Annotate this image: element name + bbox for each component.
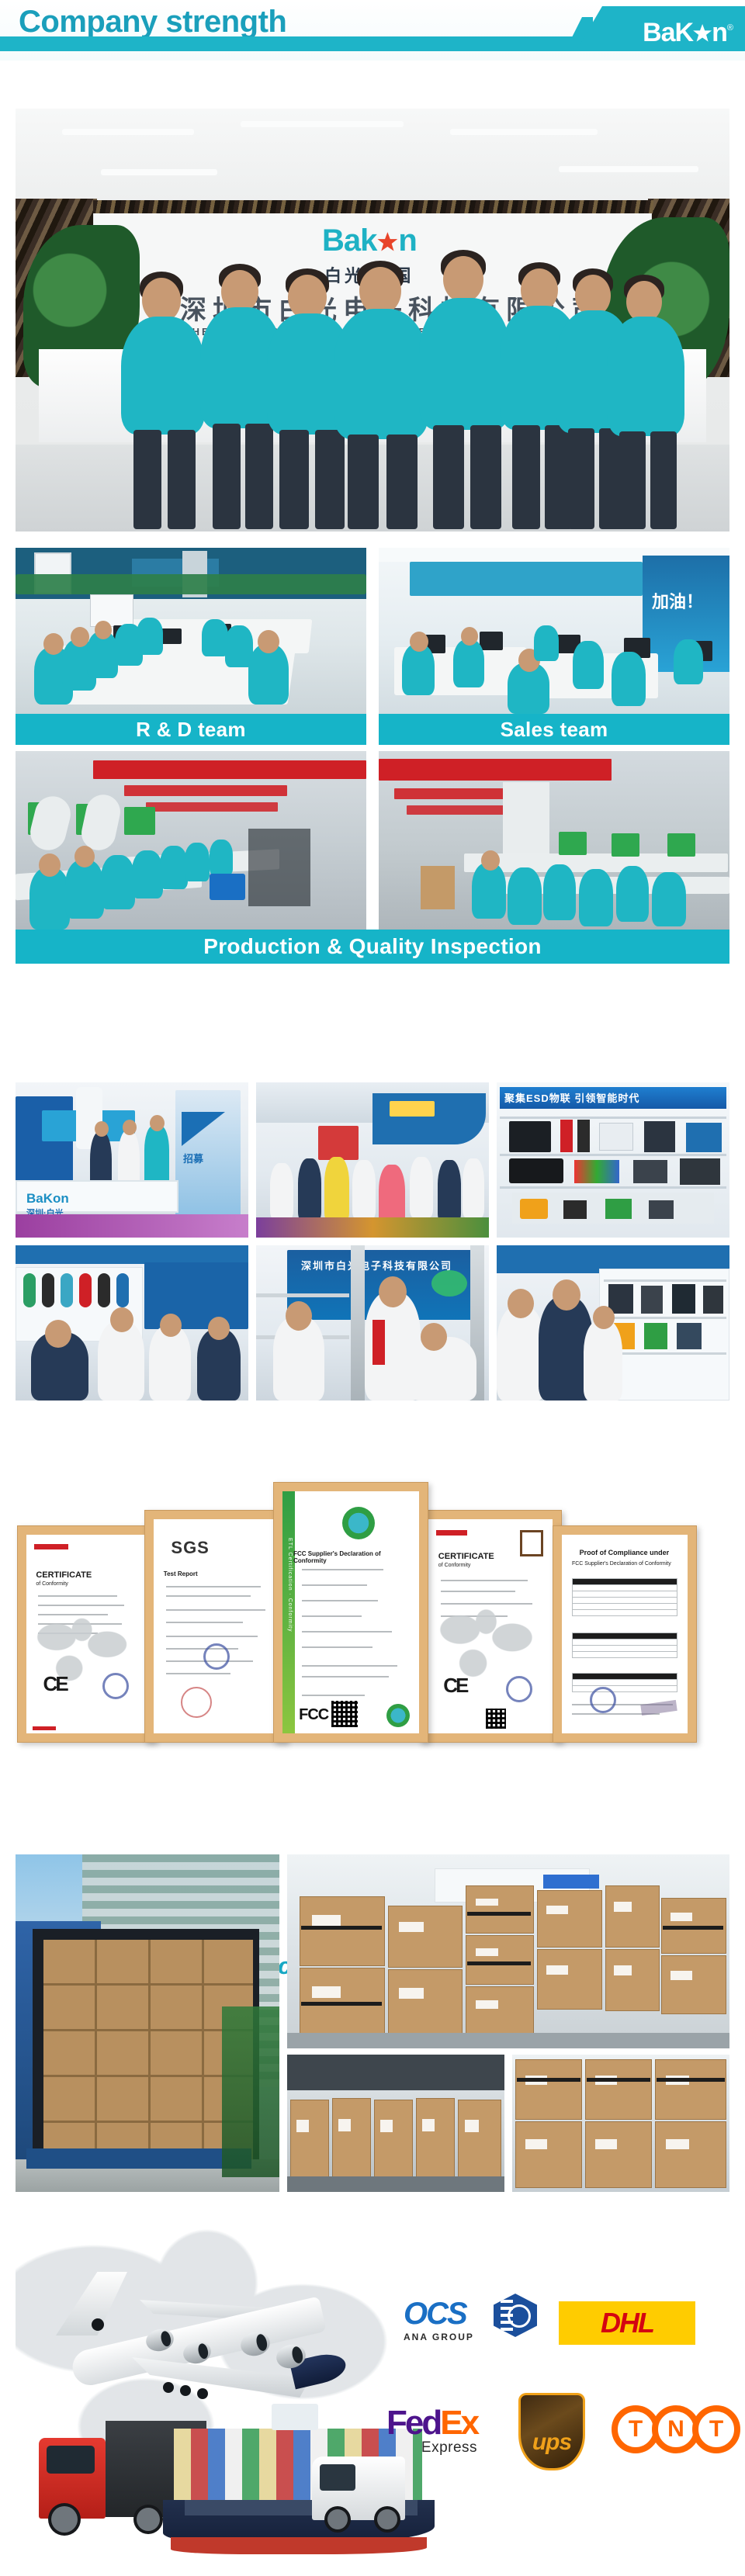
van-window xyxy=(320,2464,355,2491)
blue-bin xyxy=(210,874,245,900)
product-case xyxy=(509,1158,563,1183)
pillar xyxy=(503,782,549,857)
logo-text-k: K xyxy=(675,18,694,47)
packing-photo-truck xyxy=(16,1854,279,2192)
exhibition-photo-2 xyxy=(256,1082,489,1238)
certificate-2-subtitle: Test Report xyxy=(164,1570,198,1577)
dhl-wordmark: DHL xyxy=(601,2307,653,2339)
logistics-illustration: OCS ANA GROUP DHL FedEx Express ups T N … xyxy=(16,2196,729,2560)
certificate-1-title: CERTIFICATE xyxy=(36,1570,92,1580)
certificate-gallery: CERTIFICATE of Conformity CE SGS Test Re… xyxy=(0,1474,745,1746)
etl-logo-icon xyxy=(386,1704,410,1727)
product-display xyxy=(509,1121,551,1152)
production-caption: Production & Quality Inspection xyxy=(16,930,729,964)
blue-bins xyxy=(543,1875,599,1889)
courier-logo-dhl: DHL xyxy=(559,2301,695,2345)
tnt-letter-t2: T xyxy=(692,2405,740,2453)
qr-code-icon xyxy=(486,1709,506,1729)
packing-photo-warehouse xyxy=(287,1854,729,2048)
star-icon xyxy=(376,231,398,253)
page-title: Company strength xyxy=(19,5,286,40)
green-side-bar: ETL Certification · Conformity xyxy=(282,1491,295,1733)
stamp-icon xyxy=(102,1673,129,1699)
wall-banner xyxy=(410,562,643,596)
ship-bridge xyxy=(272,2404,318,2430)
certificate-1: CERTIFICATE of Conformity CE xyxy=(17,1525,155,1743)
booth-logo: BaKon xyxy=(26,1191,69,1207)
factory-banner xyxy=(93,760,366,779)
ceiling xyxy=(287,2055,504,2090)
dhl-logo-icon: DHL xyxy=(559,2301,695,2345)
compliance-table xyxy=(572,1633,677,1657)
sales-wall-slogan: 加油！ xyxy=(652,588,703,613)
factory-banner xyxy=(379,759,612,781)
ups-logo-icon: ups xyxy=(518,2393,585,2470)
courier-logo-fedex: FedEx Express xyxy=(386,2404,477,2457)
registered-trademark-icon: ® xyxy=(727,23,733,33)
booth-frame xyxy=(351,1245,365,1401)
compliance-table xyxy=(572,1673,677,1691)
truck-bumper xyxy=(26,2148,251,2169)
wall-bakon-logo: Bakn xyxy=(322,223,417,258)
whiteboard xyxy=(90,594,133,627)
stamp-icon xyxy=(506,1676,532,1702)
certificate-4: CERTIFICATE of Conformity CE xyxy=(419,1510,562,1743)
rd-team-photo xyxy=(16,548,366,714)
compliance-table xyxy=(572,1578,677,1615)
hedge xyxy=(222,2006,279,2177)
ce-mark-icon: CE xyxy=(43,1672,67,1696)
ups-wordmark: ups xyxy=(532,2429,571,2456)
courier-logo-ups: ups xyxy=(518,2393,585,2470)
exhibition-photo-1: 招募 BaKon 深圳·白光 xyxy=(16,1082,248,1238)
carton xyxy=(421,866,455,909)
stamp-icon xyxy=(203,1643,230,1670)
courier-logo-tnt: T N T xyxy=(612,2405,733,2453)
sales-team-caption: Sales team xyxy=(379,714,729,745)
certificate-3-title: FCC Supplier's Declaration of Conformity xyxy=(293,1550,408,1564)
ceiling-light xyxy=(241,121,404,127)
certificate-1-subtitle: of Conformity xyxy=(36,1581,68,1587)
exhibition-photo-5: 深圳市白光电子科技有限公司 xyxy=(256,1245,489,1401)
stamp-icon xyxy=(590,1687,616,1713)
rd-team-caption: R & D team xyxy=(16,714,366,745)
fcc-mark-icon: FCC xyxy=(299,1706,328,1724)
certificate-5: Proof of Compliance under FCC Supplier's… xyxy=(553,1525,697,1743)
production-photo xyxy=(16,751,366,930)
quality-inspection-photo xyxy=(379,751,729,930)
etl-logo-icon xyxy=(342,1507,375,1539)
logo-text-n: n xyxy=(712,18,727,47)
certificate-2: SGS Test Report xyxy=(144,1510,287,1743)
bakon-logo: BaKn® xyxy=(643,12,733,48)
certificate-4-subtitle: of Conformity xyxy=(438,1563,471,1568)
certificate-3: ETL Certification · Conformity FCC Suppl… xyxy=(273,1482,428,1743)
exhibition-photo-6 xyxy=(497,1245,729,1401)
courier-logo-ocs: OCS ANA GROUP xyxy=(404,2297,535,2346)
page-header: Company strength BaKn® xyxy=(0,0,745,61)
exhibition-photo-4 xyxy=(16,1245,248,1401)
esd-banner-text: 聚集ESD物联 引领智能时代 xyxy=(504,1090,639,1105)
floor xyxy=(16,1214,248,1238)
marble-trim xyxy=(93,200,653,213)
certificate-5-subtitle: FCC Supplier's Declaration of Conformity xyxy=(572,1561,680,1567)
star-icon xyxy=(692,23,712,43)
team-hero-photo: Bakn 白光·中国 深圳市白光电子科技有限公司 SHENZHEN BAKON … xyxy=(16,109,729,531)
floor xyxy=(256,1217,489,1238)
ceiling-light xyxy=(559,166,698,172)
ceiling-light xyxy=(450,129,598,135)
packing-photo-row xyxy=(287,2055,504,2192)
certificate-5-title: Proof of Compliance under xyxy=(580,1549,670,1556)
certificate-2-title: SGS xyxy=(171,1538,209,1558)
certificate-4-title: CERTIFICATE xyxy=(438,1552,494,1561)
lanyard xyxy=(372,1320,385,1365)
fedex-logo-icon: FedEx xyxy=(386,2404,477,2443)
packing-photo-stack xyxy=(512,2055,729,2192)
shelving xyxy=(248,829,310,906)
ceiling-light xyxy=(101,169,217,175)
red-stamp-icon xyxy=(181,1687,212,1718)
sales-team-photo: 加油！ xyxy=(379,548,729,714)
planter-hedge xyxy=(16,574,366,594)
tnt-logo-icon: T N T xyxy=(612,2405,733,2453)
cargo-plane-icon xyxy=(47,2258,372,2436)
logo-text-ba: Ba xyxy=(643,18,674,47)
qr-code-icon xyxy=(331,1701,358,1727)
exhibition-photo-3: 聚集ESD物联 引领智能时代 xyxy=(497,1082,729,1238)
ceiling-light xyxy=(62,129,194,135)
cab-window xyxy=(47,2446,95,2474)
ce-mark-icon: CE xyxy=(443,1674,466,1698)
